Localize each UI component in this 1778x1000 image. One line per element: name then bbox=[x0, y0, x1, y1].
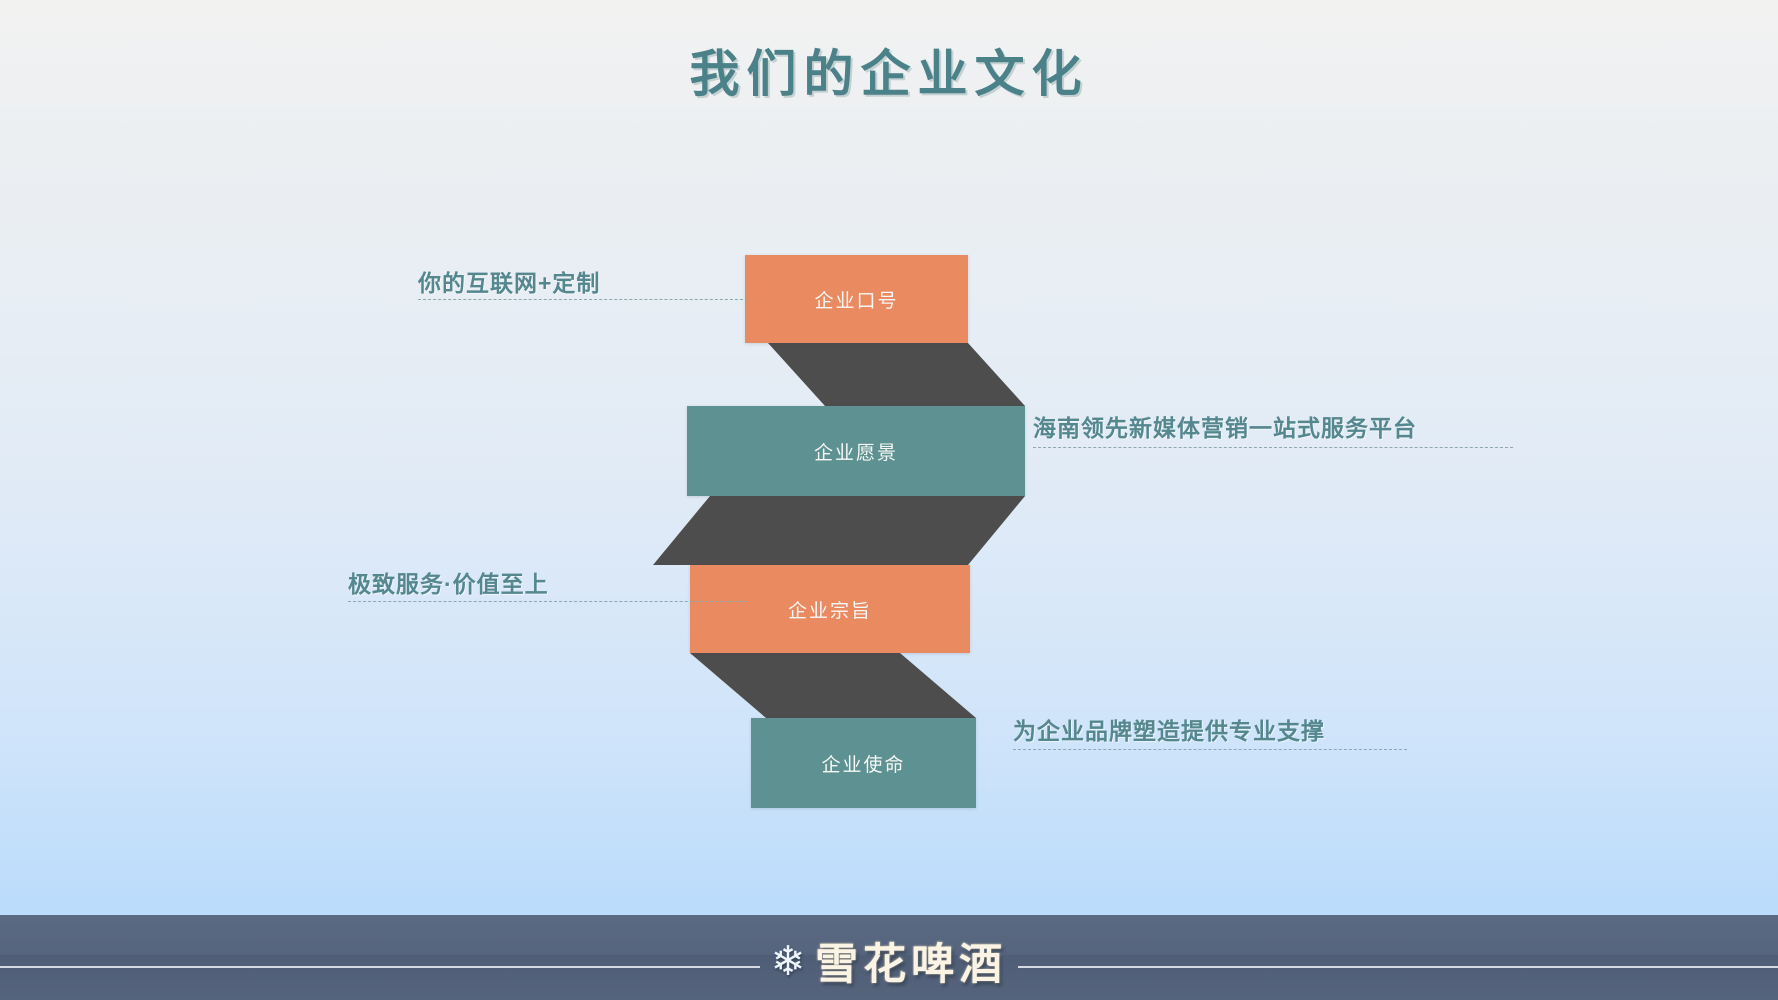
step-box-2[interactable]: 企业愿景 bbox=[687, 406, 1025, 496]
step-box-4[interactable]: 企业使命 bbox=[751, 718, 976, 808]
callout-text-2: 海南领先新媒体营销一站式服务平台 bbox=[1033, 409, 1417, 443]
slide-canvas: 我们的企业文化 企业口号 企业愿景 企业宗旨 企业使命 你的互联网+定制 海南领… bbox=[0, 0, 1778, 1000]
step-box-2-label: 企业愿景 bbox=[814, 438, 898, 465]
connector-3-4 bbox=[690, 653, 976, 718]
footer-bar: ❄ 雪花啤酒 bbox=[0, 915, 1778, 1000]
step-box-3[interactable]: 企业宗旨 bbox=[690, 565, 970, 653]
snowflake-icon: ❄ bbox=[771, 941, 805, 982]
step-box-1-label: 企业口号 bbox=[814, 286, 898, 313]
callout-leader-2 bbox=[1033, 447, 1513, 448]
step-box-1[interactable]: 企业口号 bbox=[745, 255, 968, 343]
footer-brand: ❄ 雪花啤酒 bbox=[0, 921, 1778, 1000]
zigzag-connector-ribbon bbox=[0, 0, 1778, 1000]
connector-1-2 bbox=[768, 343, 1025, 406]
callout-leader-3 bbox=[348, 601, 748, 602]
step-box-3-label: 企业宗旨 bbox=[788, 596, 872, 623]
callout-text-1: 你的互联网+定制 bbox=[418, 264, 600, 298]
callout-text-4: 为企业品牌塑造提供专业支撑 bbox=[1013, 712, 1325, 746]
step-box-4-label: 企业使命 bbox=[821, 750, 905, 777]
brand-name: 雪花啤酒 bbox=[815, 930, 1007, 992]
connector-2-3 bbox=[653, 496, 1025, 565]
callout-text-3: 极致服务·价值至上 bbox=[348, 565, 549, 599]
callout-leader-1 bbox=[418, 299, 748, 300]
callout-leader-4 bbox=[1013, 749, 1407, 750]
